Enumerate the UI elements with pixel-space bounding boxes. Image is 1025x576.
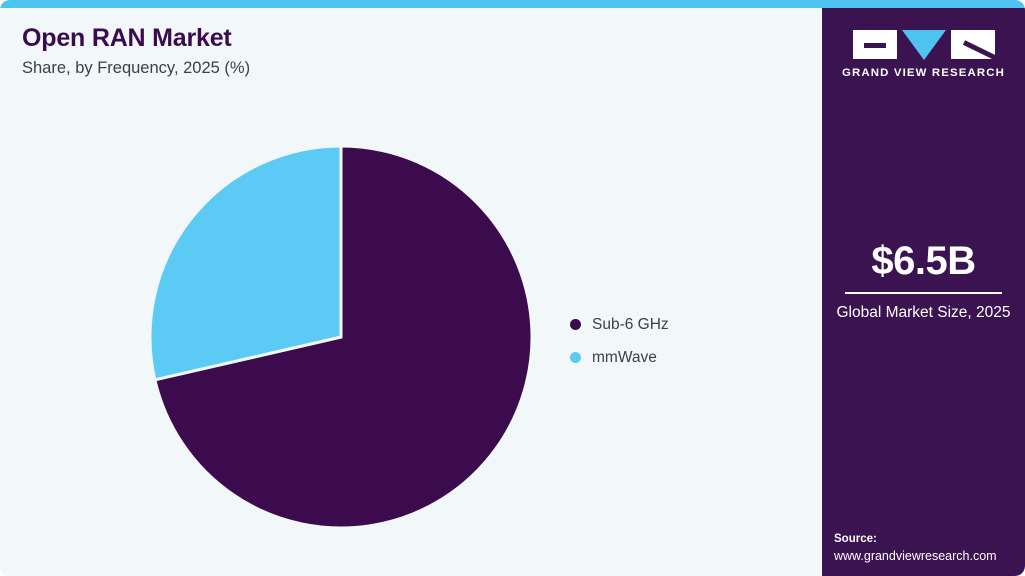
brand-sidebar: GRAND VIEW RESEARCH $6.5B Global Market … [822, 8, 1025, 576]
chart-legend: Sub-6 GHz mmWave [570, 308, 669, 374]
source-block: Source: www.grandviewresearch.com [834, 531, 1025, 565]
market-size-value: $6.5B [822, 240, 1025, 282]
pie-slice-mmwave[interactable] [150, 146, 341, 380]
market-size-stat: $6.5B Global Market Size, 2025 [822, 240, 1025, 324]
logo-letter-g-icon [853, 30, 897, 59]
legend-label-mmwave: mmWave [592, 349, 657, 367]
top-accent-bar [0, 0, 1025, 8]
source-label: Source: [834, 531, 1025, 548]
source-url[interactable]: www.grandviewresearch.com [834, 548, 1025, 565]
legend-label-sub-6-ghz: Sub-6 GHz [592, 316, 669, 334]
logo-letter-r-icon [951, 30, 995, 59]
legend-dot-sub-6-ghz [570, 319, 581, 330]
logo-wordmark: GRAND VIEW RESEARCH [822, 67, 1025, 79]
logo-marks [822, 30, 1025, 60]
infographic-card: Open RAN Market Share, by Frequency, 202… [0, 0, 1025, 576]
page-title: Open RAN Market [22, 24, 250, 53]
market-size-caption: Global Market Size, 2025 [822, 303, 1025, 324]
pie-chart [148, 144, 534, 530]
legend-item-sub-6-ghz[interactable]: Sub-6 GHz [570, 308, 669, 341]
page-subtitle: Share, by Frequency, 2025 (%) [22, 59, 250, 79]
legend-item-mmwave[interactable]: mmWave [570, 341, 669, 374]
stat-divider [845, 292, 1002, 294]
pie-chart-svg [148, 144, 534, 530]
company-logo: GRAND VIEW RESEARCH [822, 30, 1025, 79]
logo-triangle-v-icon [902, 30, 946, 60]
chart-panel: Open RAN Market Share, by Frequency, 202… [0, 8, 822, 576]
legend-dot-mmwave [570, 352, 581, 363]
title-block: Open RAN Market Share, by Frequency, 202… [22, 24, 250, 79]
